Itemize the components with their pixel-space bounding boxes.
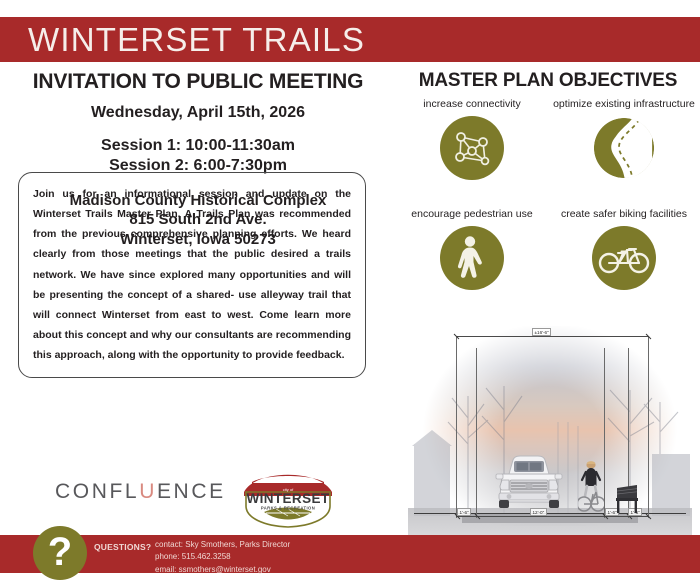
contact-name: contact: Sky Smothers, Parks Director [155,539,290,551]
bench-illustration [614,480,640,514]
logo-row: CONFLUENCE city of WINTERSET PARKS & REC… [0,462,396,530]
contact-info: contact: Sky Smothers, Parks Director ph… [155,539,290,576]
objective-label-pedestrian: encourage pedestrian use [396,208,548,221]
pedestrian-walking-icon [440,226,504,290]
objective-item-infrastructure: optimize existing infrastructure [548,98,700,180]
objective-label-infrastructure: optimize existing infrastructure [548,98,700,111]
meeting-date: Wednesday, April 15th, 2026 [0,104,396,122]
contact-email[interactable]: email: ssmothers@winterset.gov [155,564,290,576]
overall-dimension-label: ±16'-6" [532,328,551,336]
contact-phone: phone: 515.462.3258 [155,551,290,563]
confluence-logo: CONFLUENCE [55,480,226,504]
invitation-heading: INVITATION TO PUBLIC MEETING [0,70,396,94]
confluence-accent-letter: U [139,480,157,503]
winding-road-icon [592,116,656,180]
description-box: Join us for an informational session and… [18,172,366,378]
confluence-text-before: CONFL [55,480,139,503]
objective-item-pedestrian: encourage pedestrian use [396,208,548,290]
winterset-logo-graphic: city of WINTERSET PARKS & RECREATION [226,462,350,528]
questions-label: QUESTIONS? [94,542,151,552]
session-list: Session 1: 10:00-11:30am Session 2: 6:00… [0,136,396,177]
objective-label-connectivity: increase connectivity [396,98,548,111]
overall-dimension-line [456,336,648,337]
winterset-name-text: WINTERSET [246,491,329,506]
segment-dimension-line [456,516,648,517]
footer-bar [0,535,700,573]
pickup-truck-illustration [492,450,566,514]
segment-dimension-label-1: 1'-6" [457,508,471,516]
objective-item-connectivity: increase connectivity [396,98,548,180]
confluence-text-after: ENCE [157,480,226,503]
bicycle-icon [592,226,656,290]
session-item-1: Session 1: 10:00-11:30am [0,136,396,156]
cyclist-illustration [578,458,604,514]
description-text: Join us for an informational session and… [33,184,351,365]
dimension-extension-1 [476,348,477,518]
objective-item-biking: create safer biking facilities [548,208,700,290]
question-mark-glyph: ? [48,532,72,572]
winterset-subtitle-text: PARKS & RECREATION [261,506,315,511]
question-mark-badge: ? [33,526,87,580]
trail-section-rendering: ±16'-6" 1'-6" 12'-0" 1'-6" 1'-6" [400,308,700,536]
objectives-heading: MASTER PLAN OBJECTIVES [396,70,700,92]
page-title: WINTERSET TRAILS [0,23,365,56]
dimension-extension-2 [604,348,605,518]
dimension-extension-left [456,336,457,518]
objective-label-biking: create safer biking facilities [548,208,700,221]
header-bar: WINTERSET TRAILS [0,17,700,62]
dimension-extension-right [648,336,649,518]
winterset-parks-logo: city of WINTERSET PARKS & RECREATION [226,462,350,528]
network-nodes-icon [440,116,504,180]
